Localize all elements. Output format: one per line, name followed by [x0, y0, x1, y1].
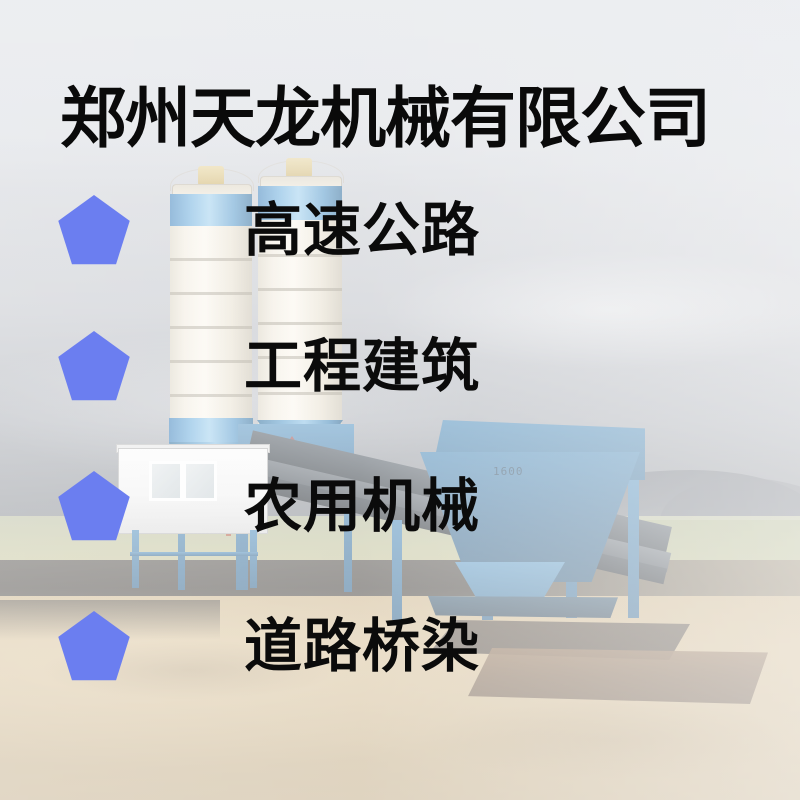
service-item-1: 工程建筑	[56, 318, 480, 414]
company-title: 郑州天龙机械有限公司	[60, 82, 710, 156]
service-item-label: 工程建筑	[244, 333, 480, 399]
service-item-label: 道路桥染	[244, 613, 480, 679]
pentagon-icon	[56, 608, 132, 684]
service-item-0: 高速公路	[56, 182, 480, 278]
service-item-2: 农用机械	[56, 458, 480, 554]
promotional-banner: 1600 郑州天龙机械有限公司 高速公路	[0, 0, 800, 800]
pentagon-icon	[56, 468, 132, 544]
service-item-label: 高速公路	[244, 197, 480, 263]
service-item-3: 道路桥染	[56, 598, 480, 694]
service-item-label: 农用机械	[244, 473, 480, 539]
banner-content: 郑州天龙机械有限公司 高速公路 工程建筑	[0, 0, 800, 800]
pentagon-icon	[56, 328, 132, 404]
pentagon-icon	[56, 192, 132, 268]
